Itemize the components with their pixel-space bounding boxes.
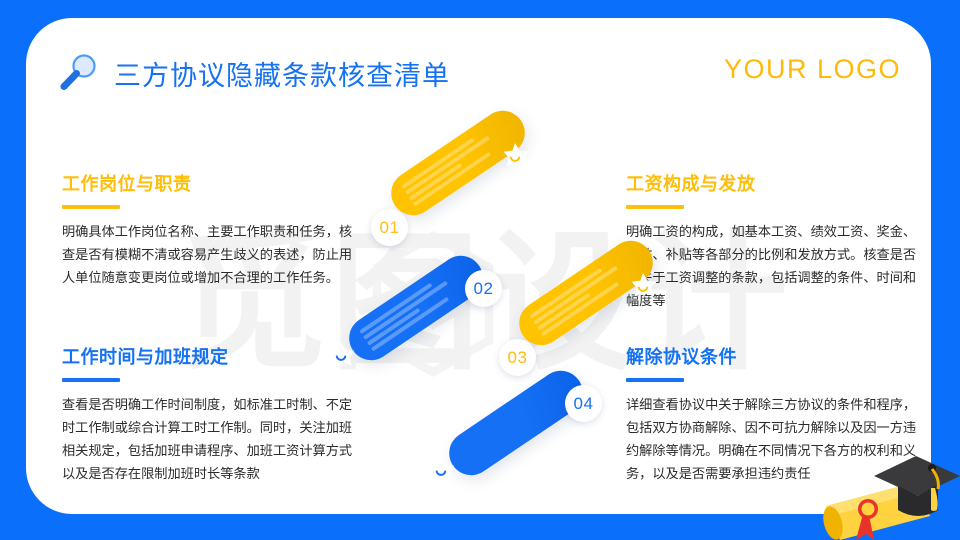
pill-01-number-text: 01	[380, 218, 400, 238]
white-content-card: 觅图设计 三方协议隐藏条款核查清单 YOUR LOGO 工作岗位与职责 明确具体…	[26, 18, 931, 514]
block-3-heading: 工资构成与发放	[626, 170, 926, 196]
content-block-2: 工作时间与加班规定 查看是否明确工作时间制度，如标准工时制、不定时工作制或综合计…	[62, 343, 362, 485]
block-1-heading: 工作岗位与职责	[62, 170, 362, 196]
block-2-body: 查看是否明确工作时间制度，如标准工时制、不定时工作制或综合计算工时工作制。同时，…	[62, 393, 362, 485]
pill-02-body	[341, 247, 492, 368]
block-1-underline	[62, 205, 120, 209]
block-2-heading: 工作时间与加班规定	[62, 343, 362, 369]
pill-02-number-text: 02	[474, 279, 494, 299]
star-icon	[324, 340, 358, 374]
content-block-1: 工作岗位与职责 明确具体工作岗位名称、主要工作职责和任务，核查是否有模糊不清或容…	[62, 170, 362, 289]
graduation-cap-icon	[804, 454, 960, 540]
block-1-body: 明确具体工作岗位名称、主要工作职责和任务，核查是否有模糊不清或容易产生歧义的表述…	[62, 220, 362, 289]
block-2-underline	[62, 378, 120, 382]
pill-03-number-text: 03	[508, 348, 528, 368]
pill-03-number: 03	[499, 339, 536, 376]
slide-header: 三方协议隐藏条款核查清单 YOUR LOGO	[26, 18, 931, 110]
page-title: 三方协议隐藏条款核查清单	[114, 54, 450, 93]
logo-placeholder: YOUR LOGO	[724, 54, 901, 85]
magnifier-icon	[59, 52, 101, 94]
block-3-underline	[626, 205, 684, 209]
star-icon	[626, 271, 660, 305]
pill-04-number-text: 04	[574, 394, 594, 414]
pill-02-lines	[359, 272, 461, 352]
pill-01-number: 01	[371, 209, 408, 246]
star-icon	[424, 455, 458, 489]
block-4-heading: 解除协议条件	[626, 343, 926, 369]
pill-02-number: 02	[465, 270, 502, 307]
block-3-body: 明确工资的构成，如基本工资、绩效工资、奖金、津贴、补贴等各部分的比例和发放方式。…	[626, 220, 926, 312]
slide-canvas: 觅图设计 三方协议隐藏条款核查清单 YOUR LOGO 工作岗位与职责 明确具体…	[0, 0, 960, 540]
content-block-3: 工资构成与发放 明确工资的构成，如基本工资、绩效工资、奖金、津贴、补贴等各部分的…	[626, 170, 926, 312]
pill-04-body	[441, 362, 592, 483]
star-icon	[498, 141, 532, 175]
pill-01-lines	[401, 127, 503, 207]
pill-04-number: 04	[565, 385, 602, 422]
pill-03-lines	[529, 257, 631, 337]
block-4-underline	[626, 378, 684, 382]
